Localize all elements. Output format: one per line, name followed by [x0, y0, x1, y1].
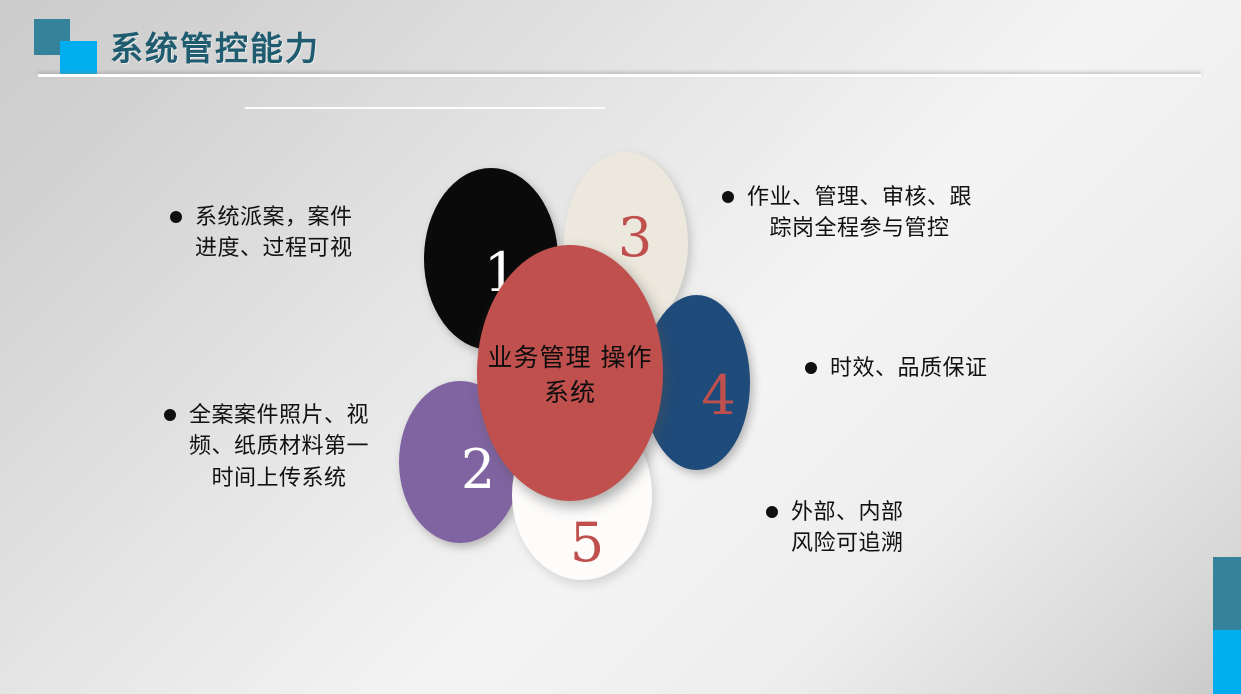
- petal-5-number: 5: [570, 516, 604, 570]
- petal-3-number: 3: [618, 211, 652, 265]
- bullet-dot-icon: [722, 191, 734, 203]
- petal-2-number: 2: [461, 443, 495, 497]
- callout-1: 系统派案，案件 进度、过程可视: [170, 202, 420, 265]
- callout-5-text: 外部、内部 风险可追溯: [791, 497, 904, 560]
- diagram-center-label: 业务管理 操作系统: [477, 340, 663, 411]
- callout-3-text: 作业、管理、审核、跟 踪岗全程参与管控: [747, 182, 972, 245]
- petal-4-number: 4: [701, 369, 735, 423]
- slide-canvas: 系统管控能力 1 3 4 2 5 业务管理 操作系统 系统派案，案件 进度、过程…: [0, 0, 1241, 694]
- bullet-dot-icon: [170, 211, 182, 223]
- corner-cyan-square-icon: [1213, 630, 1241, 694]
- callout-4: 时效、品质保证: [805, 353, 1050, 384]
- page-title: 系统管控能力: [110, 22, 320, 70]
- callout-1-text: 系统派案，案件 进度、过程可视: [195, 202, 353, 265]
- callout-5: 外部、内部 风险可追溯: [766, 497, 976, 560]
- cyan-square-icon: [60, 41, 97, 76]
- callout-2-text: 全案案件照片、视 频、纸质材料第一 时间上传系统: [189, 400, 369, 494]
- callout-2: 全案案件照片、视 频、纸质材料第一 时间上传系统: [164, 400, 436, 494]
- callout-3: 作业、管理、审核、跟 踪岗全程参与管控: [722, 182, 1042, 245]
- bullet-dot-icon: [805, 362, 817, 374]
- secondary-divider: [245, 107, 605, 109]
- bullet-dot-icon: [766, 506, 778, 518]
- title-divider: [38, 74, 1201, 77]
- callout-4-text: 时效、品质保证: [830, 353, 988, 384]
- diagram-center-hub[interactable]: 业务管理 操作系统: [477, 245, 663, 501]
- corner-teal-square-icon: [1213, 557, 1241, 630]
- bullet-dot-icon: [164, 409, 176, 421]
